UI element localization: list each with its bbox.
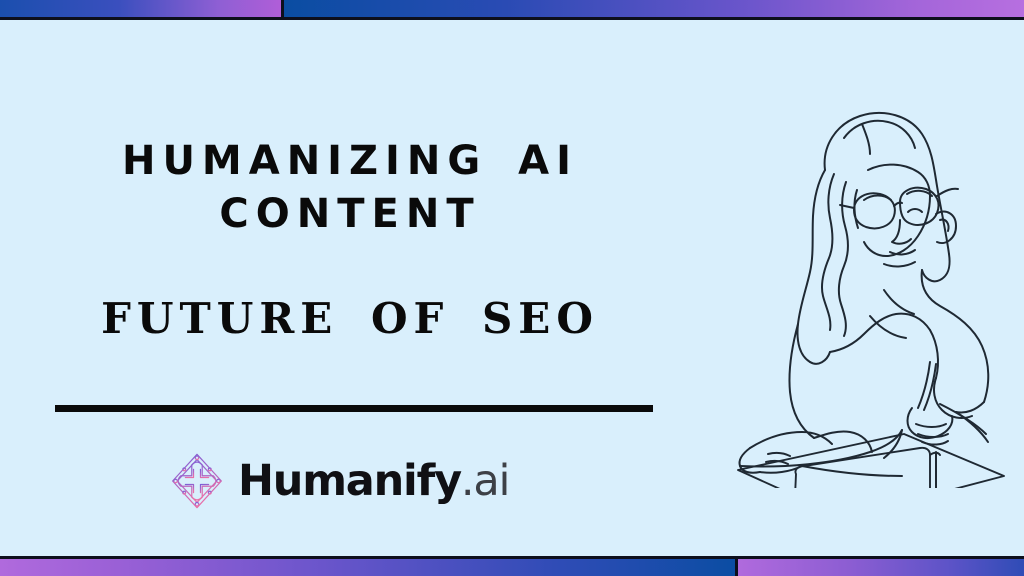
- top-band-right-segment: [284, 0, 1024, 17]
- logo-name: Humanify: [238, 456, 461, 506]
- logo-wordmark: Humanify.ai: [238, 460, 509, 503]
- bottom-gradient-band: [0, 556, 1024, 576]
- bottom-band-left-segment: [0, 559, 738, 576]
- bottom-band-right-segment: [738, 559, 1024, 576]
- top-band-left-segment: [0, 0, 284, 17]
- brand-logo: Humanify.ai: [168, 452, 509, 510]
- logo-diamond-icon: [168, 452, 226, 510]
- slide-canvas: HUMANIZING AI CONTENT FUTURE OF SEO: [0, 0, 1024, 576]
- content-column: HUMANIZING AI CONTENT FUTURE OF SEO: [0, 20, 700, 556]
- logo-suffix: .ai: [461, 456, 509, 506]
- top-gradient-band: [0, 0, 1024, 20]
- page-title: HUMANIZING AI CONTENT: [0, 135, 700, 241]
- divider-rule: [55, 405, 653, 412]
- line-art-illustration: [694, 78, 1014, 488]
- page-subtitle: FUTURE OF SEO: [0, 294, 700, 343]
